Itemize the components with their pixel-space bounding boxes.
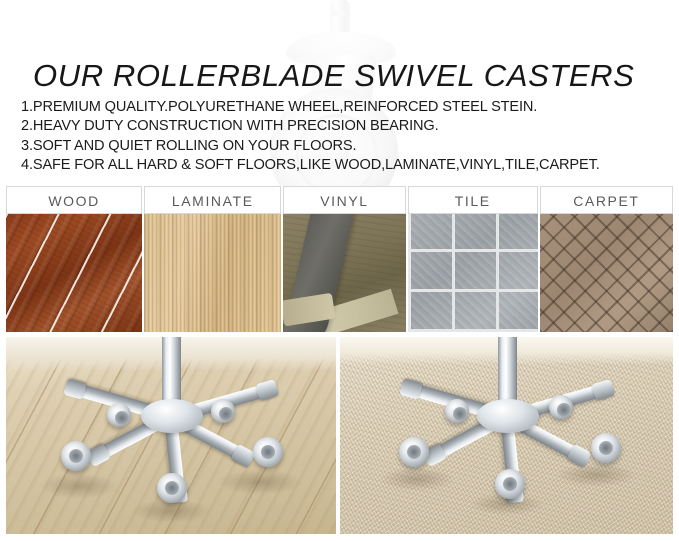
caster-wheel-icon [61,441,91,471]
vinyl-plank-texture [283,214,405,332]
caster-wheel-icon [445,399,469,423]
chair-base-on-carpet-floor [340,337,673,534]
carpet-lattice-texture [540,214,673,332]
floor-sample-tile: TILE [408,186,538,332]
floor-sample-carpet: CARPET [540,186,673,332]
floor-sample-strip: WOOD LAMINATE VINYL TILE CARPET [6,186,673,332]
caster-wheel-icon [157,473,187,503]
caster-wheel-icon [495,469,525,499]
caster-wheel-icon [591,433,621,463]
chair-base-on-wood-floor [6,337,336,534]
list-item: 1.PREMIUM QUALITY.POLYURETHANE WHEEL,REI… [21,98,600,117]
gray-tile-texture [408,214,538,332]
caster-shadow [217,469,303,495]
floor-sample-label: TILE [408,186,538,214]
page-title: OUR ROLLERBLADE SWIVEL CASTERS [33,59,634,93]
wood-plank-texture [6,214,142,332]
list-item: 3.SOFT AND QUIET ROLLING ON YOUR FLOORS. [21,137,600,156]
chair-base-caster-photo [357,337,657,534]
list-item: 4.SAFE FOR ALL HARD & SOFT FLOORS,LIKE W… [21,156,600,175]
caster-stem-icon [330,0,350,42]
floor-sample-label: WOOD [6,186,142,214]
floor-sample-label: VINYL [283,186,405,214]
caster-wheel-icon [549,395,573,419]
product-feature-poster: OUR ROLLERBLADE SWIVEL CASTERS 1.PREMIUM… [0,0,679,541]
product-photo-row [6,337,673,534]
base-hub [141,399,203,433]
floor-sample-vinyl: VINYL [283,186,405,332]
caster-wheel-icon [107,403,131,427]
floor-sample-wood: WOOD [6,186,142,332]
floor-sample-label: LAMINATE [144,186,281,214]
caster-shadow [555,463,637,487]
floor-sample-laminate: LAMINATE [144,186,281,332]
floor-sample-label: CARPET [540,186,673,214]
base-hub [477,399,539,433]
feature-list: 1.PREMIUM QUALITY.POLYURETHANE WHEEL,REI… [21,98,600,176]
chair-base-caster-photo [21,337,321,534]
caster-wheel-icon [253,437,283,467]
caster-shadow [379,467,455,491]
caster-shadow [39,473,119,499]
list-item: 2.HEAVY DUTY CONSTRUCTION WITH PRECISION… [21,117,600,136]
caster-wheel-icon [399,437,429,467]
caster-wheel-icon [211,399,235,423]
laminate-grain-texture [144,214,281,332]
